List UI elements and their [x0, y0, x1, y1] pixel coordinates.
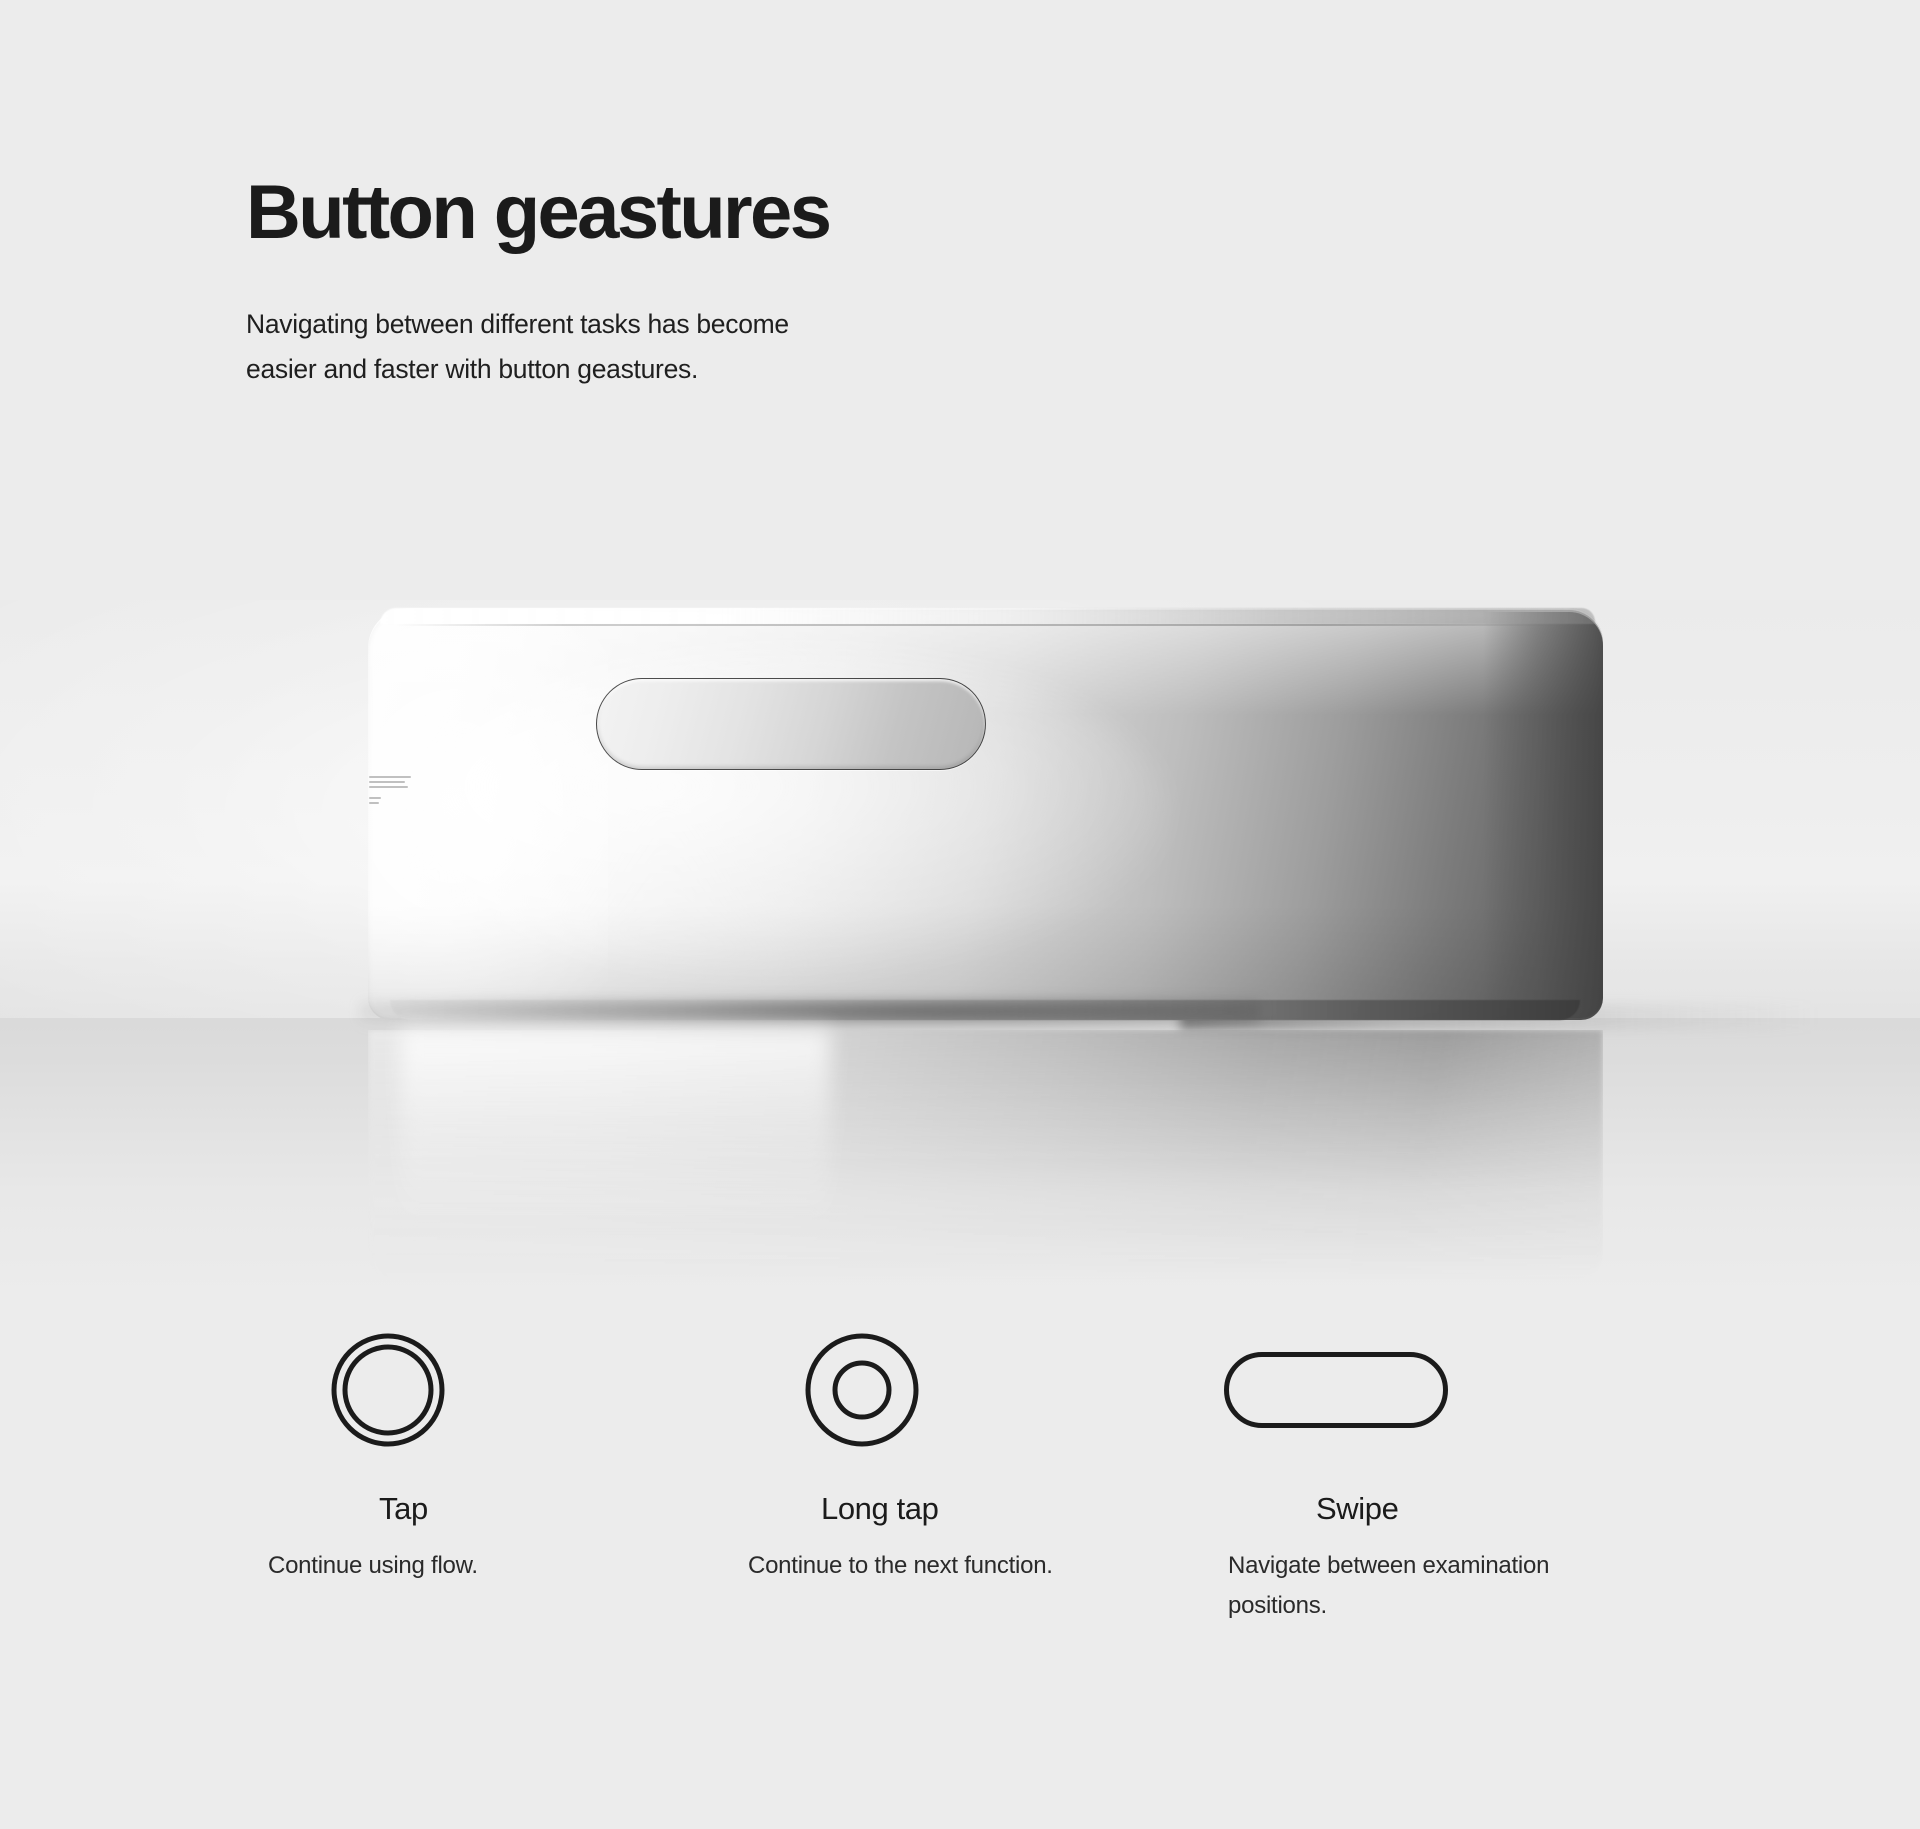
pill-outline-icon — [1223, 1340, 1449, 1440]
device-top-chamfer — [380, 608, 1595, 624]
gesture-item-swipe: Swipe Navigate between examination posit… — [1206, 1330, 1686, 1626]
device-right-face-shading — [1483, 612, 1603, 1018]
gesture-desc-long-tap: Continue to the next function. — [748, 1546, 1053, 1586]
double-ring-icon — [329, 1331, 447, 1449]
device-body-group — [368, 608, 1603, 1026]
page-root: Button geastures Navigating between diff… — [0, 0, 1920, 1829]
device-reflection-highlight — [400, 1030, 830, 1230]
tap-icon-wrap — [268, 1330, 508, 1450]
device-microprint-label — [369, 776, 415, 816]
gesture-item-long-tap: Long tap Continue to the next function. — [726, 1330, 1206, 1626]
header: Button geastures Navigating between diff… — [246, 170, 946, 392]
device-top-seam — [396, 624, 1586, 626]
ring-in-ring-icon — [803, 1331, 921, 1449]
hero-product-scene — [0, 600, 1920, 1300]
swipe-icon-wrap — [1216, 1330, 1456, 1450]
gesture-desc-swipe: Navigate between examination positions. — [1228, 1546, 1558, 1626]
gesture-title-swipe: Swipe — [1316, 1490, 1398, 1528]
long-tap-icon-wrap — [742, 1330, 982, 1450]
gesture-desc-tap: Continue using flow. — [268, 1546, 478, 1586]
gesture-legend: Tap Continue using flow. Long tap Contin… — [246, 1330, 1686, 1626]
page-subtitle: Navigating between different tasks has b… — [246, 302, 866, 392]
page-title: Button geastures — [246, 170, 946, 256]
gesture-item-tap: Tap Continue using flow. — [246, 1330, 726, 1626]
device-contact-shadow — [360, 1000, 1260, 1028]
gesture-title-tap: Tap — [379, 1490, 428, 1528]
device-physical-button[interactable] — [596, 678, 986, 770]
gesture-title-long-tap: Long tap — [821, 1490, 938, 1528]
